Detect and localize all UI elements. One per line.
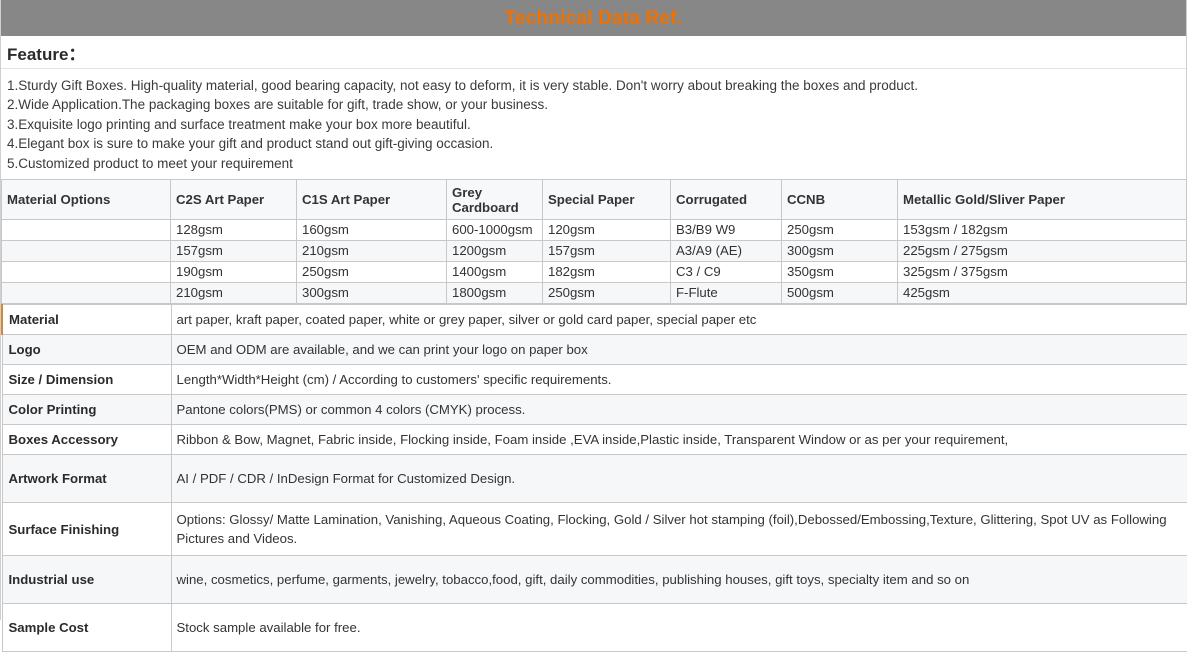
- spec-row-artwork-format: Artwork Format AI / PDF / CDR / InDesign…: [2, 455, 1187, 503]
- specification-table: Material art paper, kraft paper, coated …: [1, 304, 1187, 652]
- cell-ccnb: 350gsm: [782, 262, 898, 283]
- cell-special: 157gsm: [543, 241, 671, 262]
- spec-value-color-printing: Pantone colors(PMS) or common 4 colors (…: [171, 395, 1187, 425]
- cell-empty: [2, 262, 171, 283]
- cell-grey: 600-1000gsm: [447, 220, 543, 241]
- cell-ccnb: 500gsm: [782, 283, 898, 304]
- spec-value-artwork-format: AI / PDF / CDR / InDesign Format for Cus…: [171, 455, 1187, 503]
- cell-metallic: 225gsm / 275gsm: [898, 241, 1187, 262]
- cell-special: 182gsm: [543, 262, 671, 283]
- feature-line-3: 3.Exquisite logo printing and surface tr…: [7, 115, 1180, 134]
- col-header-material-options: Material Options: [2, 180, 171, 220]
- spec-row-surface-finishing: Surface Finishing Options: Glossy/ Matte…: [2, 503, 1187, 556]
- cell-special: 120gsm: [543, 220, 671, 241]
- feature-line-2: 2.Wide Application.The packaging boxes a…: [7, 95, 1180, 114]
- cell-c2s: 210gsm: [171, 283, 297, 304]
- cell-ccnb: 250gsm: [782, 220, 898, 241]
- col-header-ccnb: CCNB: [782, 180, 898, 220]
- spec-row-industrial-use: Industrial use wine, cosmetics, perfume,…: [2, 556, 1187, 604]
- cell-empty: [2, 241, 171, 262]
- cell-metallic: 425gsm: [898, 283, 1187, 304]
- spec-label-artwork-format: Artwork Format: [2, 455, 171, 503]
- col-header-c2s-art-paper: C2S Art Paper: [171, 180, 297, 220]
- spec-row-color-printing: Color Printing Pantone colors(PMS) or co…: [2, 395, 1187, 425]
- feature-line-1: 1.Sturdy Gift Boxes. High-quality materi…: [7, 76, 1180, 95]
- cell-metallic: 153gsm / 182gsm: [898, 220, 1187, 241]
- spec-label-color-printing: Color Printing: [2, 395, 171, 425]
- table-row: 210gsm 300gsm 1800gsm 250gsm F-Flute 500…: [2, 283, 1187, 304]
- col-header-corrugated: Corrugated: [671, 180, 782, 220]
- feature-line-4: 4.Elegant box is sure to make your gift …: [7, 134, 1180, 153]
- spec-label-sample-cost: Sample Cost: [2, 604, 171, 652]
- table-row: 128gsm 160gsm 600-1000gsm 120gsm B3/B9 W…: [2, 220, 1187, 241]
- material-options-table: Material Options C2S Art Paper C1S Art P…: [1, 179, 1187, 304]
- material-table-header-row: Material Options C2S Art Paper C1S Art P…: [2, 180, 1187, 220]
- spec-value-surface-finishing: Options: Glossy/ Matte Lamination, Vanis…: [171, 503, 1187, 556]
- cell-grey: 1200gsm: [447, 241, 543, 262]
- feature-heading-row: Feature：: [1, 36, 1186, 69]
- feature-line-5: 5.Customized product to meet your requir…: [7, 154, 1180, 173]
- cell-c1s: 210gsm: [297, 241, 447, 262]
- spec-value-industrial-use: wine, cosmetics, perfume, garments, jewe…: [171, 556, 1187, 604]
- cell-c2s: 190gsm: [171, 262, 297, 283]
- spec-label-logo: Logo: [2, 335, 171, 365]
- feature-list: 1.Sturdy Gift Boxes. High-quality materi…: [1, 69, 1186, 179]
- spec-row-size-dimension: Size / Dimension Length*Width*Height (cm…: [2, 365, 1187, 395]
- cell-special: 250gsm: [543, 283, 671, 304]
- spec-value-sample-cost: Stock sample available for free.: [171, 604, 1187, 652]
- spec-label-size-dimension: Size / Dimension: [2, 365, 171, 395]
- cell-c2s: 128gsm: [171, 220, 297, 241]
- cell-c1s: 250gsm: [297, 262, 447, 283]
- cell-grey: 1800gsm: [447, 283, 543, 304]
- cell-corrugated: F-Flute: [671, 283, 782, 304]
- cell-c1s: 160gsm: [297, 220, 447, 241]
- cell-corrugated: C3 / C9: [671, 262, 782, 283]
- cell-c2s: 157gsm: [171, 241, 297, 262]
- spec-value-size-dimension: Length*Width*Height (cm) / According to …: [171, 365, 1187, 395]
- cell-empty: [2, 283, 171, 304]
- spec-row-sample-cost: Sample Cost Stock sample available for f…: [2, 604, 1187, 652]
- spec-label-material: Material: [2, 305, 171, 335]
- spec-row-boxes-accessory: Boxes Accessory Ribbon & Bow, Magnet, Fa…: [2, 425, 1187, 455]
- cell-corrugated: B3/B9 W9: [671, 220, 782, 241]
- spec-value-material: art paper, kraft paper, coated paper, wh…: [171, 305, 1187, 335]
- cell-empty: [2, 220, 171, 241]
- col-header-c1s-art-paper: C1S Art Paper: [297, 180, 447, 220]
- feature-heading: Feature：: [7, 40, 85, 65]
- col-header-special-paper: Special Paper: [543, 180, 671, 220]
- cell-ccnb: 300gsm: [782, 241, 898, 262]
- cell-c1s: 300gsm: [297, 283, 447, 304]
- spec-value-logo: OEM and ODM are available, and we can pr…: [171, 335, 1187, 365]
- spec-label-industrial-use: Industrial use: [2, 556, 171, 604]
- spec-label-boxes-accessory: Boxes Accessory: [2, 425, 171, 455]
- table-row: 190gsm 250gsm 1400gsm 182gsm C3 / C9 350…: [2, 262, 1187, 283]
- table-row: 157gsm 210gsm 1200gsm 157gsm A3/A9 (AE) …: [2, 241, 1187, 262]
- col-header-grey-cardboard: Grey Cardboard: [447, 180, 543, 220]
- spec-row-logo: Logo OEM and ODM are available, and we c…: [2, 335, 1187, 365]
- page-banner: Technical Data Ref.: [1, 0, 1186, 36]
- technical-data-sheet: Technical Data Ref. Feature： 1.Sturdy Gi…: [0, 0, 1187, 620]
- cell-grey: 1400gsm: [447, 262, 543, 283]
- col-header-metallic-paper: Metallic Gold/Sliver Paper: [898, 180, 1187, 220]
- cell-corrugated: A3/A9 (AE): [671, 241, 782, 262]
- spec-row-material: Material art paper, kraft paper, coated …: [2, 305, 1187, 335]
- cell-metallic: 325gsm / 375gsm: [898, 262, 1187, 283]
- spec-value-boxes-accessory: Ribbon & Bow, Magnet, Fabric inside, Flo…: [171, 425, 1187, 455]
- spec-label-surface-finishing: Surface Finishing: [2, 503, 171, 556]
- page-title: Technical Data Ref.: [505, 9, 683, 28]
